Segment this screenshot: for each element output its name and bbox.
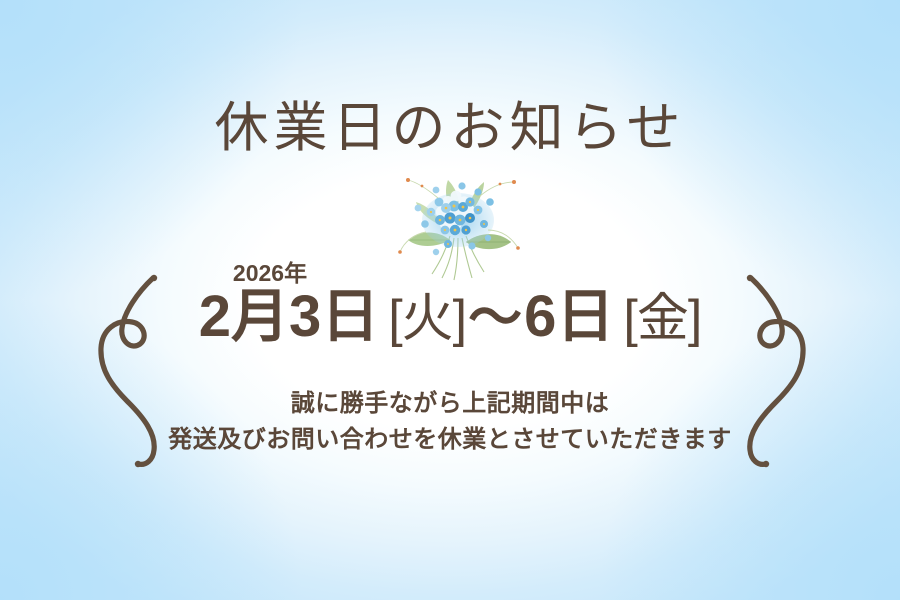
date-start-month: 2月 [199,284,289,349]
date-start-day: 3日 [289,284,379,349]
notice-body-line-1: 誠に勝手ながら上記期間中は [0,386,900,422]
date-range-mark: 〜 [466,288,524,348]
date-range: 2月3日[火]〜6日[金] [0,288,900,346]
date-year: 2026年 [0,262,900,285]
notice-body-line-2: 発送及びお問い合わせを休業とさせていただきます [0,422,900,458]
holiday-date-block: 2026年 2月3日[火]〜6日[金] [0,262,900,346]
notice-body: 誠に勝手ながら上記期間中は 発送及びお問い合わせを休業とさせていただきます [0,386,900,459]
date-end-day: 6日 [524,284,614,349]
date-start-weekday: [火] [388,290,466,348]
notice-canvas: 休業日のお知らせ [0,0,900,600]
date-end-weekday: [金] [623,290,701,348]
page-title: 休業日のお知らせ [0,100,900,157]
